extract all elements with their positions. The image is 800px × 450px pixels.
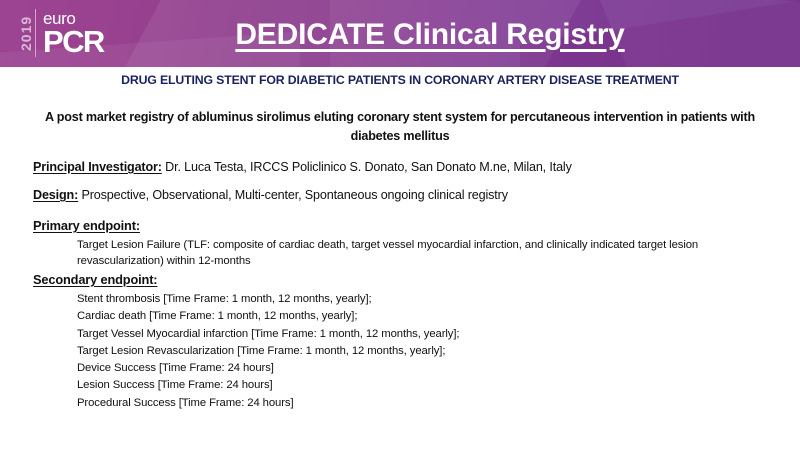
secondary-endpoint-item: Stent thrombosis [Time Frame: 1 month, 1… (77, 291, 777, 308)
design-line: Design: Prospective, Observational, Mult… (33, 188, 773, 202)
principal-investigator-value: Dr. Luca Testa, IRCCS Policlinico S. Don… (162, 160, 572, 174)
design-value: Prospective, Observational, Multi-center… (78, 188, 508, 202)
secondary-endpoint-list: Stent thrombosis [Time Frame: 1 month, 1… (77, 291, 777, 412)
design-label: Design: (33, 188, 78, 202)
secondary-endpoint-item: Target Vessel Myocardial infarction [Tim… (77, 326, 777, 343)
secondary-endpoint-item: Target Lesion Revascularization [Time Fr… (77, 343, 777, 360)
primary-endpoint-heading: Primary endpoint: (33, 218, 140, 233)
primary-endpoint-text: Target Lesion Failure (TLF: composite of… (77, 237, 777, 269)
header-banner: 2019 euro PCR DEDICATE Clinical Registry (0, 0, 800, 67)
page-subtitle: DRUG ELUTING STENT FOR DIABETIC PATIENTS… (0, 73, 800, 87)
secondary-endpoint-item: Lesion Success [Time Frame: 24 hours] (77, 377, 777, 394)
secondary-endpoint-item: Cardiac death [Time Frame: 1 month, 12 m… (77, 308, 777, 325)
secondary-endpoint-item: Device Success [Time Frame: 24 hours] (77, 360, 777, 377)
page-title: DEDICATE Clinical Registry (0, 18, 800, 52)
principal-investigator-line: Principal Investigator: Dr. Luca Testa, … (33, 160, 773, 174)
principal-investigator-label: Principal Investigator: (33, 160, 162, 174)
study-description: A post market registry of abluminus siro… (40, 108, 760, 146)
secondary-endpoint-heading: Secondary endpoint: (33, 272, 157, 287)
secondary-endpoint-item: Procedural Success [Time Frame: 24 hours… (77, 395, 777, 412)
